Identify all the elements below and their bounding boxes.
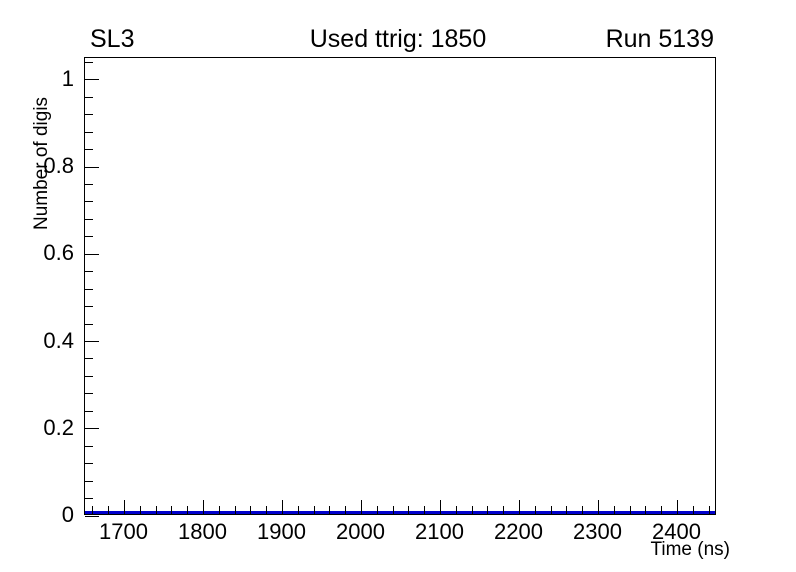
- x-tick-minor: [551, 506, 552, 514]
- x-tick-minor: [709, 506, 710, 514]
- x-tick-major: [598, 500, 599, 514]
- x-tick-major: [203, 500, 204, 514]
- y-tick-minor: [85, 271, 93, 272]
- x-tick-minor: [298, 506, 299, 514]
- y-axis-title-text: Number of digis: [30, 97, 54, 230]
- x-tick-minor: [235, 506, 236, 514]
- x-tick-minor: [614, 506, 615, 514]
- x-tick-minor: [472, 506, 473, 514]
- x-tick-minor: [345, 506, 346, 514]
- x-tick-major: [519, 500, 520, 514]
- y-tick-minor: [85, 289, 93, 290]
- root-canvas: SL3 Used ttrig: 1850 Run 5139 00.20.40.6…: [0, 0, 796, 572]
- x-tick-minor: [582, 506, 583, 514]
- x-tick-major: [361, 500, 362, 514]
- x-tick-minor: [92, 506, 93, 514]
- y-tick-minor: [85, 498, 93, 499]
- x-tick-minor: [329, 506, 330, 514]
- x-tick-label: 2300: [573, 521, 622, 543]
- y-tick-major: [85, 516, 99, 517]
- plot-area: [85, 58, 715, 514]
- y-tick-major: [85, 79, 99, 80]
- x-tick-minor: [156, 506, 157, 514]
- y-tick-minor: [85, 132, 93, 133]
- x-tick-minor: [566, 506, 567, 514]
- y-tick-major: [85, 341, 99, 342]
- y-tick-major: [85, 254, 99, 255]
- x-tick-minor: [693, 506, 694, 514]
- x-tick-minor: [314, 506, 315, 514]
- x-tick-minor: [503, 506, 504, 514]
- y-tick-major: [85, 428, 99, 429]
- x-tick-minor: [219, 506, 220, 514]
- x-tick-minor: [487, 506, 488, 514]
- x-tick-minor: [630, 506, 631, 514]
- y-tick-minor: [85, 446, 93, 447]
- x-tick-minor: [187, 506, 188, 514]
- x-tick-minor: [377, 506, 378, 514]
- x-tick-label: 1800: [178, 521, 227, 543]
- y-tick-minor: [85, 481, 93, 482]
- x-tick-label: 1700: [99, 521, 148, 543]
- y-tick-minor: [85, 236, 93, 237]
- x-tick-minor: [408, 506, 409, 514]
- x-tick-major: [282, 500, 283, 514]
- x-tick-minor: [140, 506, 141, 514]
- y-tick-minor: [85, 463, 93, 464]
- x-tick-minor: [266, 506, 267, 514]
- y-tick-minor: [85, 149, 93, 150]
- y-tick-label: 0: [62, 504, 74, 526]
- y-tick-label: 1: [62, 68, 74, 90]
- x-tick-minor: [424, 506, 425, 514]
- header-right-label: Run 5139: [606, 27, 714, 52]
- x-tick-minor: [456, 506, 457, 514]
- y-tick-minor: [85, 376, 93, 377]
- y-tick-minor: [85, 358, 93, 359]
- y-tick-minor: [85, 393, 93, 394]
- x-tick-minor: [645, 506, 646, 514]
- x-tick-label: 2200: [494, 521, 543, 543]
- x-tick-major: [124, 500, 125, 514]
- y-tick-minor: [85, 306, 93, 307]
- y-tick-minor: [85, 184, 93, 185]
- y-tick-minor: [85, 201, 93, 202]
- x-tick-major: [677, 500, 678, 514]
- y-tick-major: [85, 167, 99, 168]
- data-series-digis: [85, 511, 715, 514]
- x-axis-title: Time (ns): [650, 540, 730, 559]
- plot-frame: [84, 57, 716, 515]
- x-tick-minor: [393, 506, 394, 514]
- y-tick-minor: [85, 114, 93, 115]
- x-tick-label: 1900: [257, 521, 306, 543]
- y-tick-minor: [85, 97, 93, 98]
- x-tick-minor: [661, 506, 662, 514]
- x-tick-label: 2100: [415, 521, 464, 543]
- x-tick-minor: [535, 506, 536, 514]
- x-tick-minor: [108, 506, 109, 514]
- x-tick-label: 2000: [336, 521, 385, 543]
- y-tick-minor: [85, 62, 93, 63]
- y-tick-label: 0.6: [43, 242, 74, 264]
- x-tick-minor: [171, 506, 172, 514]
- y-tick-minor: [85, 411, 93, 412]
- y-axis-title: Number of digis: [8, 50, 32, 290]
- y-tick-label: 0.4: [43, 330, 74, 352]
- y-tick-minor: [85, 324, 93, 325]
- y-tick-minor: [85, 219, 93, 220]
- y-tick-label: 0.2: [43, 417, 74, 439]
- x-tick-minor: [250, 506, 251, 514]
- x-tick-major: [440, 500, 441, 514]
